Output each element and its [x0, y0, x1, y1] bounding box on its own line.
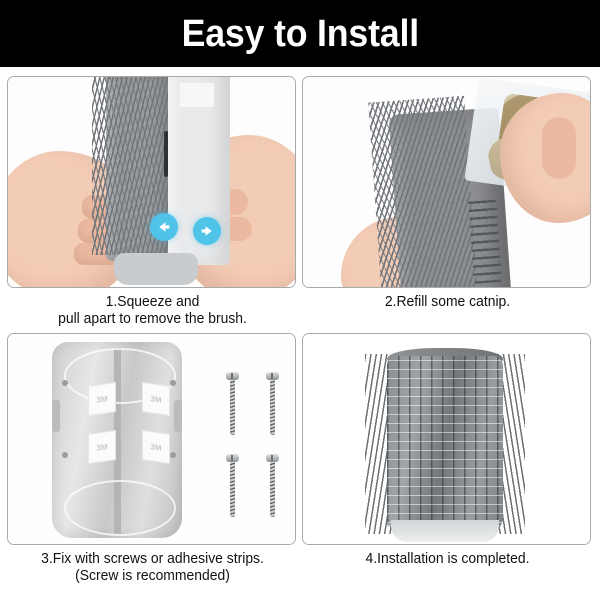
adhesive-pad: 3M — [88, 430, 116, 464]
base-tab-left — [52, 400, 60, 432]
adhesive-pad-label: 3M — [96, 442, 107, 453]
step-1-photo — [7, 76, 296, 288]
step-2-photo — [302, 76, 591, 288]
step-3-photo: 3M 3M 3M 3M — [7, 333, 296, 545]
screw — [226, 372, 239, 435]
step-4-caption: 4.Installation is completed. — [302, 551, 593, 568]
pouring-thumb — [542, 117, 576, 179]
groomer-base — [114, 253, 198, 285]
groomer-bristle-texture — [387, 356, 503, 532]
housing-vents — [468, 196, 502, 284]
step-card-4: 4.Installation is completed. — [302, 333, 593, 568]
step-2-caption: 2.Refill some catnip. — [302, 294, 593, 311]
page-title: Easy to Install — [181, 15, 418, 53]
screw — [266, 372, 279, 435]
screw-hole-4 — [170, 452, 176, 458]
screw-hole-2 — [170, 380, 176, 386]
arrow-right-badge — [193, 217, 221, 245]
adhesive-pad-label: 3M — [150, 442, 161, 453]
cover-seam — [164, 131, 168, 177]
adhesive-pad: 3M — [142, 382, 170, 416]
step-4-photo — [302, 333, 591, 545]
screw — [226, 454, 239, 517]
caption-line: (Screw is recommended) — [13, 568, 292, 585]
caption-line: 2.Refill some catnip. — [308, 294, 587, 311]
screw — [266, 454, 279, 517]
infographic-page: Easy to Install — [0, 0, 600, 600]
caption-line: 4.Installation is completed. — [308, 551, 587, 568]
steps-grid: 1.Squeeze and pull apart to remove the b… — [0, 67, 600, 600]
adhesive-pad: 3M — [88, 382, 116, 416]
step-1-caption: 1.Squeeze and pull apart to remove the b… — [7, 294, 298, 328]
arrow-left-badge — [150, 213, 178, 241]
brush-bristles — [368, 96, 478, 288]
header-banner: Easy to Install — [0, 0, 600, 67]
screw-hole-3 — [62, 452, 68, 458]
step-card-3: 3M 3M 3M 3M — [7, 333, 298, 585]
adhesive-pad-label: 3M — [96, 394, 107, 405]
base-bottom-arc — [64, 480, 176, 536]
step-3-caption: 3.Fix with screws or adhesive strips. (S… — [7, 551, 298, 585]
step-card-1: 1.Squeeze and pull apart to remove the b… — [7, 76, 298, 328]
adhesive-pad-label: 3M — [150, 394, 161, 405]
unit-base-foot — [391, 520, 499, 542]
caption-line: 1.Squeeze and — [13, 294, 292, 311]
caption-line: 3.Fix with screws or adhesive strips. — [13, 551, 292, 568]
adhesive-pad: 3M — [142, 430, 170, 464]
caption-line: pull apart to remove the brush. — [13, 311, 292, 328]
step-card-2: 2.Refill some catnip. — [302, 76, 593, 311]
base-tab-right — [174, 400, 182, 432]
screw-hole-1 — [62, 380, 68, 386]
cover-label-panel — [180, 83, 214, 107]
